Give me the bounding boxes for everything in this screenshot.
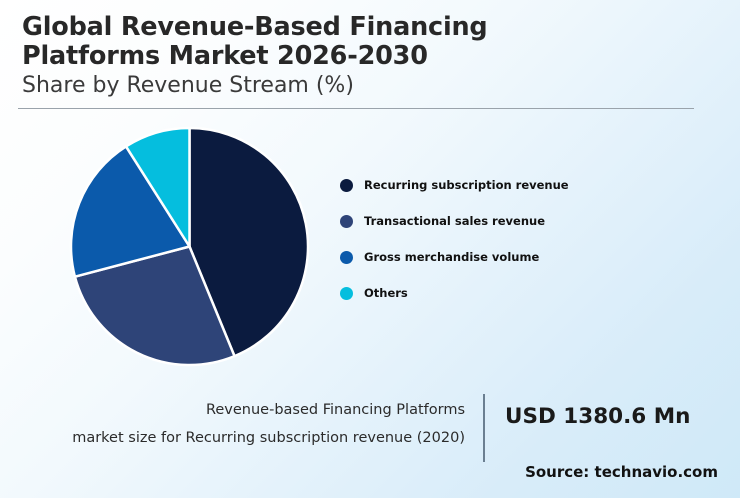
legend-label: Recurring subscription revenue (364, 178, 569, 192)
metric-description: Revenue-based Financing Platforms market… (20, 396, 465, 452)
legend-swatch-icon (340, 251, 353, 264)
chart-legend: Recurring subscription revenue Transacti… (340, 167, 640, 311)
legend-item-transactional-sales-revenue[interactable]: Transactional sales revenue (340, 203, 640, 239)
legend-label: Gross merchandise volume (364, 250, 539, 264)
legend-label: Transactional sales revenue (364, 214, 545, 228)
legend-item-others[interactable]: Others (340, 275, 640, 311)
legend-item-gross-merchandise-volume[interactable]: Gross merchandise volume (340, 239, 640, 275)
infographic-root: Global Revenue-Based Financing Platforms… (0, 0, 740, 498)
legend-item-recurring-subscription-revenue[interactable]: Recurring subscription revenue (340, 167, 640, 203)
source-attribution: Source: technavio.com (525, 463, 718, 481)
metric-divider (483, 394, 485, 462)
legend-swatch-icon (340, 215, 353, 228)
metric-description-line-2: market size for Recurring subscription r… (20, 424, 465, 452)
metric-value: USD 1380.6 Mn (505, 404, 690, 429)
legend-swatch-icon (340, 179, 353, 192)
legend-label: Others (364, 286, 408, 300)
metric-callout: Revenue-based Financing Platforms market… (20, 396, 720, 456)
legend-swatch-icon (340, 287, 353, 300)
metric-description-line-1: Revenue-based Financing Platforms (20, 396, 465, 424)
